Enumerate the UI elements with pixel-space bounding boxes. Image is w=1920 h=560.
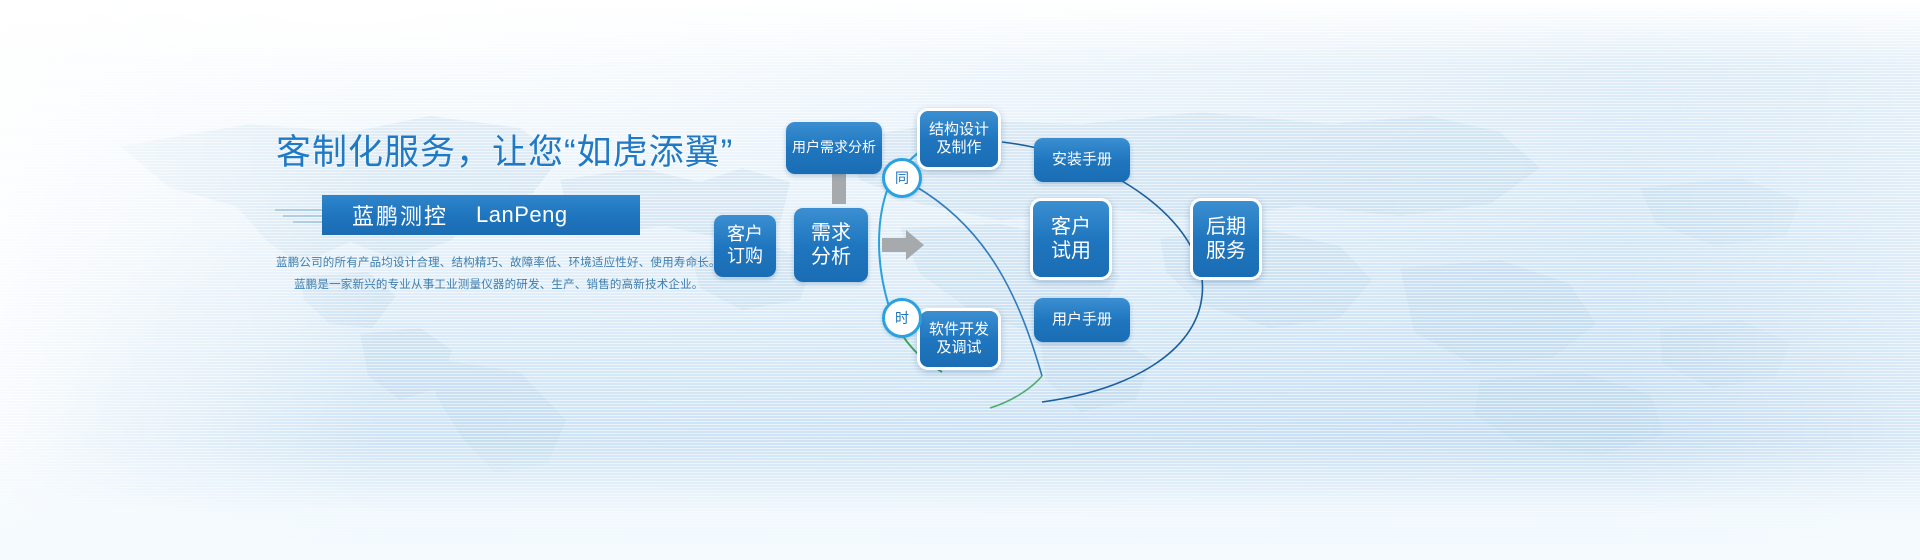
flow-node-after-sales-service[interactable]: 后期 服务	[1190, 198, 1262, 280]
flow-node-label: 安装手册	[1052, 151, 1112, 169]
flow-node-label: 用户手册	[1052, 311, 1112, 329]
brand-name-en: LanPeng	[448, 202, 568, 228]
brand-bar: 蓝鹏测控 LanPeng	[322, 195, 640, 235]
flow-node-requirement-analysis[interactable]: 需求 分析	[794, 208, 868, 282]
flow-node-label: 客户 试用	[1051, 215, 1091, 264]
flow-node-install-manual[interactable]: 安装手册	[1034, 138, 1130, 182]
arrow-analysis-to-loop	[882, 230, 924, 260]
flow-node-user-manual[interactable]: 用户手册	[1034, 298, 1130, 342]
description-line-1: 蓝鹏公司的所有产品均设计合理、结构精巧、故障率低、环境适应性好、使用寿命长。	[276, 253, 696, 275]
hero-description: 蓝鹏公司的所有产品均设计合理、结构精巧、故障率低、环境适应性好、使用寿命长。 蓝…	[276, 253, 696, 297]
flow-badge-tong[interactable]: 同	[882, 158, 922, 198]
process-flowchart: 用户需求分析 客户 订购 需求 分析 结构设计 及制作 软件开发 及调试 安装手…	[690, 90, 1920, 410]
flow-node-user-requirement-analysis[interactable]: 用户需求分析	[786, 122, 882, 174]
flow-node-label: 结构设计 及制作	[929, 121, 989, 158]
flow-node-customer-order[interactable]: 客户 订购	[714, 215, 776, 277]
flow-node-structure-design[interactable]: 结构设计 及制作	[917, 108, 1001, 170]
hero-copy: 客制化服务，让您“如虎添翼” 蓝鹏测控 LanPeng 蓝鹏公司的所有产品均设计…	[276, 132, 696, 297]
flow-node-label: 客户 订购	[727, 224, 763, 268]
flow-node-label: 需求 分析	[811, 221, 851, 270]
page-title: 客制化服务，让您“如虎添翼”	[276, 132, 696, 173]
flow-node-customer-trial[interactable]: 客户 试用	[1030, 198, 1112, 280]
flow-node-label: 软件开发 及调试	[929, 321, 989, 358]
flow-node-label: 后期 服务	[1206, 215, 1246, 264]
brand-row: 蓝鹏测控 LanPeng	[276, 195, 696, 235]
banner-stage: 客制化服务，让您“如虎添翼” 蓝鹏测控 LanPeng 蓝鹏公司的所有产品均设计…	[0, 0, 1920, 560]
brand-name-cn: 蓝鹏测控	[322, 199, 448, 231]
flow-badge-shi[interactable]: 时	[882, 298, 922, 338]
flow-badge-label: 时	[895, 308, 909, 328]
flow-node-software-development[interactable]: 软件开发 及调试	[917, 308, 1001, 370]
flow-badge-label: 同	[895, 168, 909, 188]
flow-node-label: 用户需求分析	[792, 139, 876, 156]
description-line-2: 蓝鹏是一家新兴的专业从事工业测量仪器的研发、生产、销售的高新技术企业。	[276, 275, 696, 297]
